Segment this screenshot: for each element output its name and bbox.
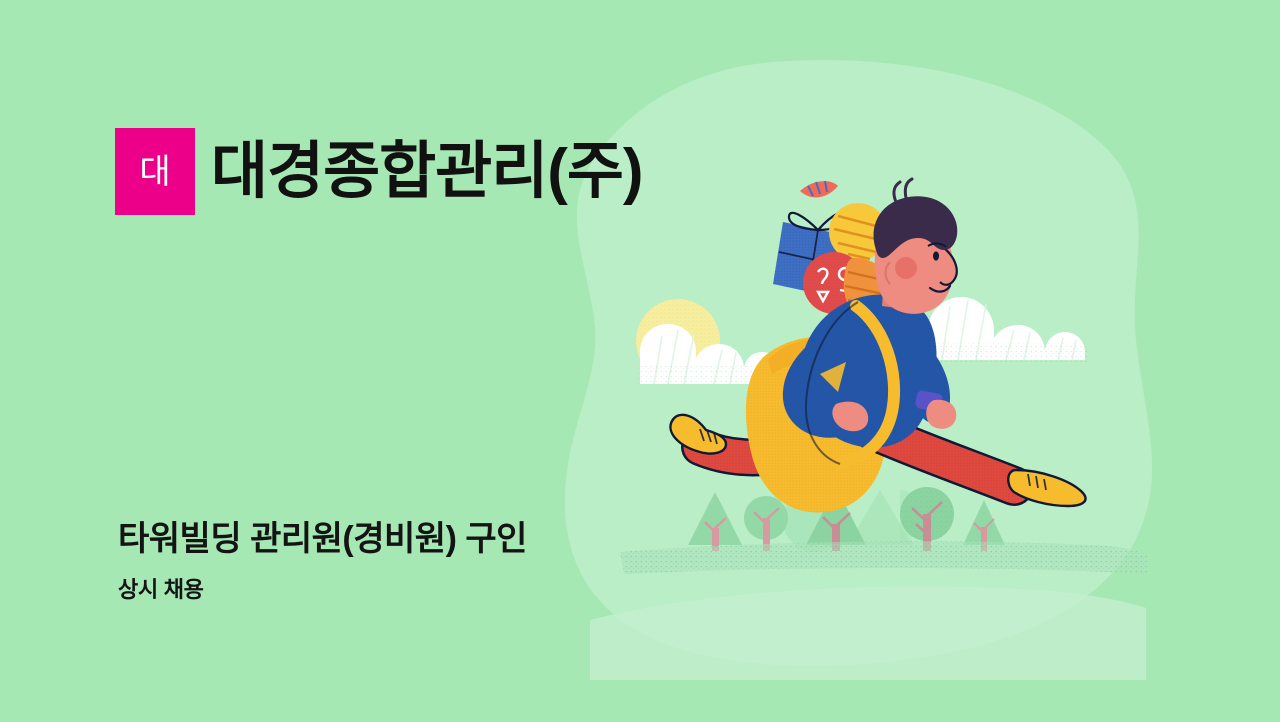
job-posting-poster: 대 대경종합관리(주) 타워빌딩 관리원(경비원) 구인 상시 채용 <box>0 0 1280 722</box>
running-delivery-person-illustration <box>0 0 1280 722</box>
company-badge-initial: 대 <box>139 155 170 189</box>
job-title: 타워빌딩 관리원(경비원) 구인 <box>118 518 527 561</box>
company-header: 대 대경종합관리(주) <box>115 128 643 215</box>
company-badge: 대 <box>115 128 195 215</box>
eye <box>933 251 939 260</box>
job-recruitment-status: 상시 채용 <box>118 577 527 603</box>
cheek <box>895 257 917 279</box>
job-info: 타워빌딩 관리원(경비원) 구인 상시 채용 <box>118 518 527 603</box>
company-name: 대경종합관리(주) <box>211 141 643 203</box>
